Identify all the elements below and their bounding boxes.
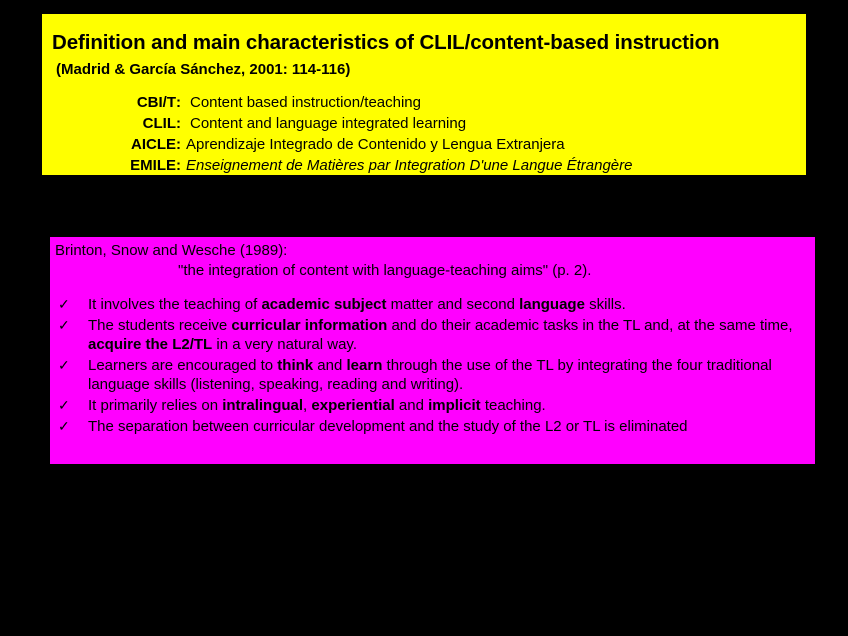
acronym-definition: Enseignement de Matières par Integration… — [181, 157, 632, 174]
acronym-definition: Content based instruction/teaching — [181, 94, 421, 111]
emphasis-text: curricular information — [231, 317, 387, 334]
checkmark-icon: ✓ — [56, 316, 88, 335]
acronym-row-emile: EMILE:Enseignement de Matières par Integ… — [102, 157, 802, 178]
title-citation: (Madrid & García Sánchez, 2001: 114-116) — [56, 61, 350, 78]
title-panel: Definition and main characteristics of C… — [42, 14, 806, 175]
acronym-row-cbi-t: CBI/T:Content based instruction/teaching — [102, 94, 802, 115]
acronym-definition: Content and language integrated learning — [181, 115, 466, 132]
acronym-row-aicle: AICLE:Aprendizaje Integrado de Contenido… — [102, 136, 802, 157]
characteristics-list: ✓It involves the teaching of academic su… — [56, 295, 808, 438]
list-item-text: Learners are encouraged to think and lea… — [88, 356, 808, 394]
emphasis-text: acquire the L2/TL — [88, 336, 212, 353]
plain-text: in a very natural way. — [212, 336, 357, 353]
source-citation: Brinton, Snow and Wesche (1989): — [55, 242, 287, 259]
checkmark-icon: ✓ — [56, 356, 88, 375]
plain-text: The separation between curricular develo… — [88, 418, 688, 435]
acronym-definition: Aprendizaje Integrado de Contenido y Len… — [181, 136, 565, 153]
emphasis-text: learn — [347, 357, 383, 374]
acronym-term: AICLE — [102, 136, 176, 153]
emphasis-text: academic subject — [261, 296, 386, 313]
plain-text: teaching. — [481, 397, 546, 414]
acronym-list: CBI/T:Content based instruction/teaching… — [102, 94, 802, 178]
list-item: ✓The separation between curricular devel… — [56, 417, 808, 436]
slide-canvas: Definition and main characteristics of C… — [0, 0, 848, 636]
checkmark-icon: ✓ — [56, 417, 88, 436]
list-item: ✓It primarily relies on intralingual, ex… — [56, 396, 808, 415]
emphasis-text: experiential — [311, 397, 394, 414]
plain-text: and — [313, 357, 346, 374]
acronym-term: EMILE — [102, 157, 176, 174]
acronym-term: CLIL — [102, 115, 176, 132]
list-item: ✓It involves the teaching of academic su… — [56, 295, 808, 314]
list-item: ✓Learners are encouraged to think and le… — [56, 356, 808, 394]
plain-text: The students receive — [88, 317, 231, 334]
plain-text: matter and second — [387, 296, 520, 313]
plain-text: It involves the teaching of — [88, 296, 261, 313]
plain-text: and do their academic tasks in the TL an… — [387, 317, 792, 334]
list-item-text: The separation between curricular develo… — [88, 417, 808, 436]
body-panel: Brinton, Snow and Wesche (1989): "the in… — [50, 237, 815, 464]
list-item: ✓The students receive curricular informa… — [56, 316, 808, 354]
emphasis-text: language — [519, 296, 585, 313]
plain-text: Learners are encouraged to — [88, 357, 277, 374]
emphasis-text: intralingual — [222, 397, 303, 414]
list-item-text: The students receive curricular informat… — [88, 316, 808, 354]
emphasis-text: think — [277, 357, 313, 374]
acronym-row-clil: CLIL:Content and language integrated lea… — [102, 115, 802, 136]
acronym-term: CBI/T — [102, 94, 176, 111]
checkmark-icon: ✓ — [56, 295, 88, 314]
plain-text: It primarily relies on — [88, 397, 222, 414]
definition-quote: "the integration of content with languag… — [178, 262, 591, 279]
emphasis-text: implicit — [428, 397, 481, 414]
plain-text: skills. — [585, 296, 626, 313]
page-title: Definition and main characteristics of C… — [52, 31, 719, 55]
plain-text: and — [395, 397, 428, 414]
checkmark-icon: ✓ — [56, 396, 88, 415]
list-item-text: It primarily relies on intralingual, exp… — [88, 396, 808, 415]
list-item-text: It involves the teaching of academic sub… — [88, 295, 808, 314]
